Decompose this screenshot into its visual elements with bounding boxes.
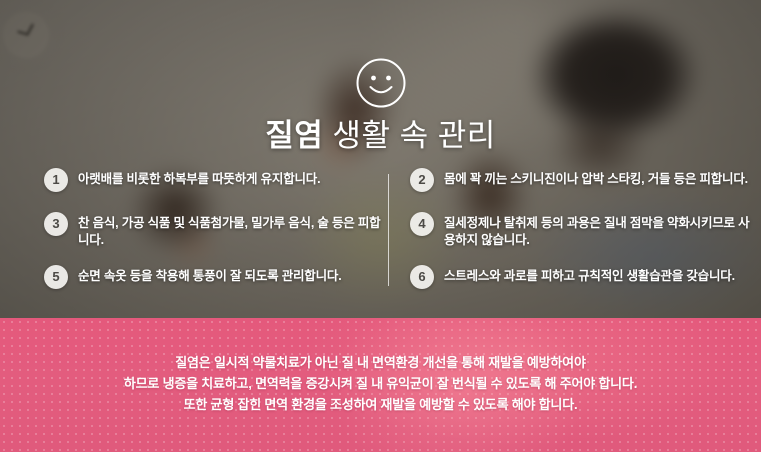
smiley-face-icon (355, 57, 407, 109)
page-title: 질염 생활 속 관리 (0, 117, 761, 155)
footer-message: 질염은 일시적 약물치료가 아닌 질 내 면역환경 개선을 통해 재발을 예방하… (0, 352, 761, 415)
tip-text: 스트레스와 과로를 피하고 규칙적인 생활습관을 갖습니다. (444, 265, 750, 285)
tip-number-badge: 6 (410, 265, 434, 289)
footer-line-3: 또한 균형 잡힌 면역 환경을 조성하여 재발을 예방할 수 있도록 해야 합니… (0, 394, 761, 415)
tip-number-badge: 3 (44, 212, 68, 236)
tip-item: 5 순면 속옷 등을 착용해 통풍이 잘 되도록 관리합니다. (44, 265, 384, 289)
tip-text: 질세정제나 탈취제 등의 과용은 질내 점막을 약화시키므로 사용하지 않습니다… (444, 212, 750, 249)
footer-line-1: 질염은 일시적 약물치료가 아닌 질 내 면역환경 개선을 통해 재발을 예방하… (0, 352, 761, 373)
tip-text: 몸에 꽉 끼는 스키니진이나 압박 스타킹, 거들 등은 피합니다. (444, 168, 750, 188)
tip-text: 아랫배를 비롯한 하복부를 따뜻하게 유지합니다. (78, 168, 384, 188)
tip-item: 4 질세정제나 탈취제 등의 과용은 질내 점막을 약화시키므로 사용하지 않습… (410, 212, 750, 249)
tip-number-badge: 5 (44, 265, 68, 289)
page-title-rest: 생활 속 관리 (332, 118, 495, 153)
tip-item: 6 스트레스와 과로를 피하고 규칙적인 생활습관을 갖습니다. (410, 265, 750, 289)
tip-item: 3 찬 음식, 가공 식품 및 식품첨가물, 밀가루 음식, 술 등은 피합니다… (44, 212, 384, 249)
column-divider (388, 174, 389, 286)
infographic-root: 질염 생활 속 관리 1 아랫배를 비롯한 하복부를 따뜻하게 유지합니다. 3… (0, 0, 761, 452)
footer-line-2: 하므로 냉증을 치료하고, 면역력을 증강시켜 질 내 유익균이 잘 번식될 수… (0, 373, 761, 394)
header: 질염 생활 속 관리 (0, 0, 761, 155)
tip-text: 찬 음식, 가공 식품 및 식품첨가물, 밀가루 음식, 술 등은 피합니다. (78, 212, 384, 249)
tip-item: 2 몸에 꽉 끼는 스키니진이나 압박 스타킹, 거들 등은 피합니다. (410, 168, 750, 192)
tip-number-badge: 2 (410, 168, 434, 192)
tips-section: 1 아랫배를 비롯한 하복부를 따뜻하게 유지합니다. 3 찬 음식, 가공 식… (0, 168, 761, 296)
footer-banner: 질염은 일시적 약물치료가 아닌 질 내 면역환경 개선을 통해 재발을 예방하… (0, 318, 761, 452)
page-title-strong: 질염 (265, 118, 323, 153)
tip-item: 1 아랫배를 비롯한 하복부를 따뜻하게 유지합니다. (44, 168, 384, 192)
tip-number-badge: 1 (44, 168, 68, 192)
tip-text: 순면 속옷 등을 착용해 통풍이 잘 되도록 관리합니다. (78, 265, 384, 285)
tip-number-badge: 4 (410, 212, 434, 236)
